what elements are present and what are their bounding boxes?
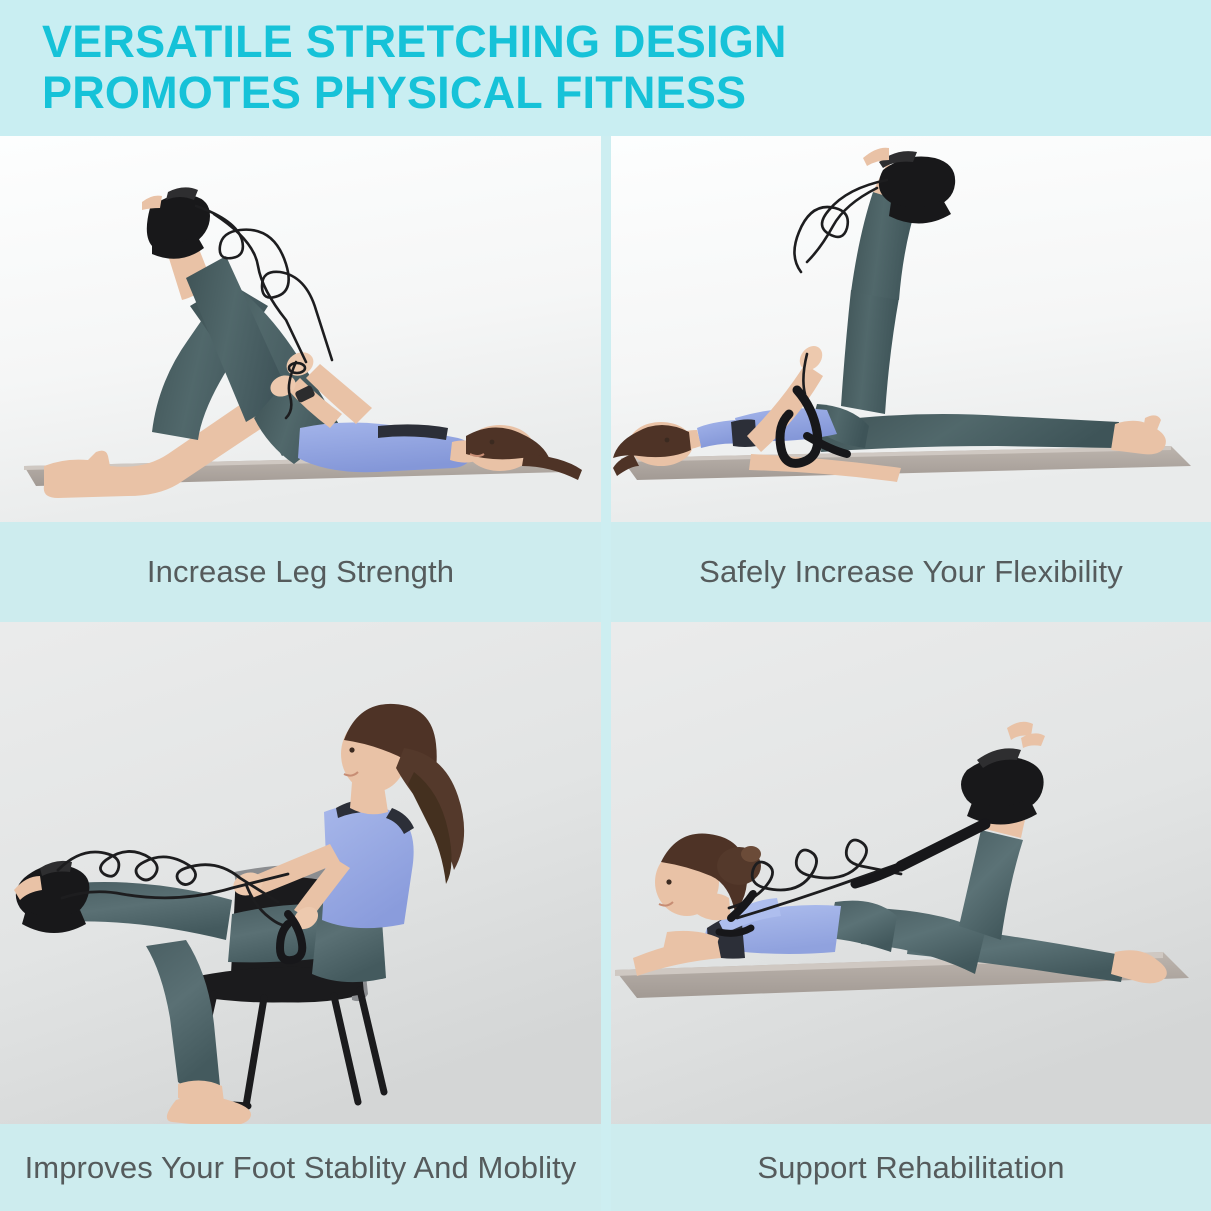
caption-text: Improves Your Foot Stablity And Moblity [25,1150,577,1186]
headline-line-2: PROMOTES PHYSICAL FITNESS [42,67,1162,118]
photo-supine-vertical-leg-stretch [611,136,1211,522]
feature-panel-1 [0,136,601,522]
feature-panel-4 [611,622,1211,1124]
caption-panel-4: Support Rehabilitation [611,1124,1211,1211]
headline-line-1: VERSATILE STRETCHING DESIGN [42,16,787,67]
photo-seated-chair-foot-stretch [0,622,601,1124]
header-banner: VERSATILE STRETCHING DESIGN PROMOTES PHY… [0,0,1211,136]
caption-text: Increase Leg Strength [147,554,454,590]
caption-text: Support Rehabilitation [757,1150,1064,1186]
product-infographic: VERSATILE STRETCHING DESIGN PROMOTES PHY… [0,0,1211,1211]
caption-text: Safely Increase Your Flexibility [699,554,1123,590]
caption-panel-2: Safely Increase Your Flexibility [611,522,1211,622]
photo-prone-quad-stretch [611,622,1211,1124]
feature-panel-2 [611,136,1211,522]
caption-panel-1: Increase Leg Strength [0,522,601,622]
photo-supine-single-leg-raise [0,136,601,522]
page-title: VERSATILE STRETCHING DESIGN PROMOTES PHY… [42,16,1162,118]
caption-panel-3: Improves Your Foot Stablity And Moblity [0,1124,601,1211]
feature-panel-3 [0,622,601,1124]
